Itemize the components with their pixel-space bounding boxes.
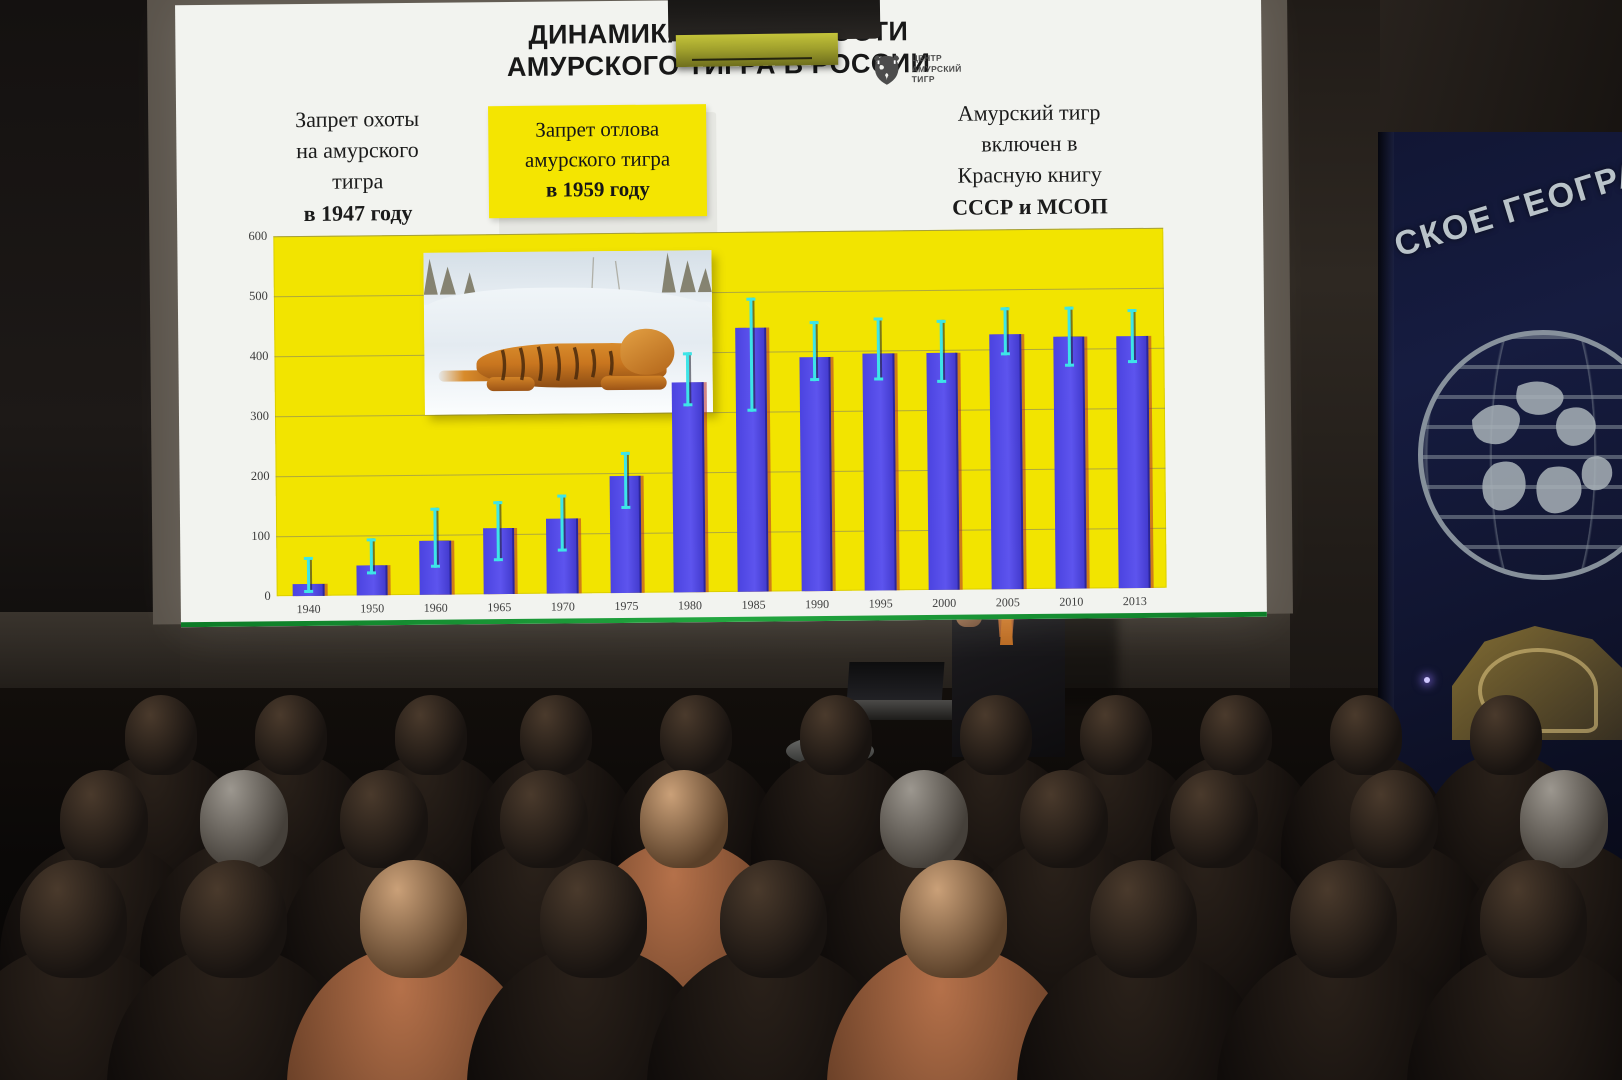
audience-head: [500, 770, 588, 868]
chart-error-bar: [686, 352, 690, 406]
chart-bar-group: [597, 233, 653, 593]
audience-head: [340, 770, 428, 868]
chart-bar-group: [1105, 228, 1161, 588]
chart-bar: [989, 334, 1023, 589]
chart-bar-group: [724, 231, 780, 591]
audience-head: [1290, 860, 1397, 978]
chart-plot-area: [273, 228, 1166, 597]
chart-bar: [672, 382, 706, 592]
chart-y-tick: 300: [223, 409, 269, 424]
chart-bar: [1053, 337, 1087, 589]
chart-error-bar: [307, 557, 310, 593]
chart-bar: [926, 353, 960, 590]
audience-head: [360, 860, 467, 978]
chart-error-bar: [813, 321, 817, 381]
audience-head: [125, 695, 197, 775]
note-right-line-2: включен в: [924, 127, 1134, 160]
audience-head: [800, 695, 872, 775]
audience-head: [640, 770, 728, 868]
audience-head: [255, 695, 327, 775]
audience-head: [60, 770, 148, 868]
chart-y-tick: 500: [222, 289, 268, 304]
chart-y-axis: 0100200300400500600: [219, 236, 270, 596]
note-right-line-3: Красную книгу: [925, 158, 1135, 191]
chart-bar-group: [1042, 228, 1098, 588]
presentation-slide: ДИНАМИКА ЧИСЛЕННОСТИ АМУРСКОГО ТИГРА В Р…: [175, 0, 1267, 627]
tiger-face-icon: [869, 51, 905, 87]
note-left-line-3: тигра: [263, 165, 453, 198]
chart-bar: [863, 353, 897, 590]
chart-bar-group: [342, 235, 398, 595]
chart-error-bar: [1003, 307, 1006, 355]
audience-head: [1090, 860, 1197, 978]
audience-head: [1330, 695, 1402, 775]
chart-bar-group: [533, 233, 589, 593]
chart-error-bar: [749, 298, 753, 412]
audience-head: [720, 860, 827, 978]
audience-head: [1170, 770, 1258, 868]
audience-head: [180, 860, 287, 978]
note-center-bold: в 1959 году: [546, 176, 650, 201]
audience-head: [20, 860, 127, 978]
chart-y-tick: 200: [223, 469, 269, 484]
chart-bar-group: [406, 235, 462, 595]
chart-error-bar: [497, 501, 501, 561]
audience-head: [200, 770, 288, 868]
note-red-book: Амурский тигр включен в Красную книгу СС…: [924, 96, 1135, 223]
audience-head: [1020, 770, 1108, 868]
audience-head: [1470, 695, 1542, 775]
note-right-line-1: Амурский тигр: [924, 96, 1134, 129]
chart-error-bar: [940, 320, 944, 383]
note-left-line-1: Запрет охоты: [262, 103, 452, 136]
chart-bar-group: [787, 231, 843, 591]
note-center-line-2: амурского тигра: [496, 144, 698, 176]
chart-error-bar: [1131, 309, 1135, 363]
screenshot-root: СКОЕ ГЕОГРАФИЧЕ ДИНАМИКА ЧИСЛЕННОСТИ: [0, 0, 1622, 1080]
note-center-line-1: Запрет отлова: [496, 114, 698, 146]
audience-head: [395, 695, 467, 775]
chart-bar-group: [279, 236, 335, 596]
projector-lens: [676, 33, 838, 67]
chart-bars: [273, 228, 1166, 597]
audience-head: [900, 860, 1007, 978]
chart-y-tick: 0: [225, 589, 271, 604]
audience-head: [1350, 770, 1438, 868]
chart-y-tick: 100: [224, 529, 270, 544]
chart-bar-group: [469, 234, 525, 594]
chart-y-tick: 600: [221, 229, 267, 244]
chart-y-tick: 400: [222, 349, 268, 364]
note-right-bold: СССР и МСОП: [952, 193, 1108, 219]
audience-head: [520, 695, 592, 775]
audience-head: [1200, 695, 1272, 775]
chart-error-bar: [370, 538, 373, 574]
chart-bar-group: [914, 230, 970, 590]
chart-bar: [1117, 336, 1151, 588]
audience-head: [880, 770, 968, 868]
tiger-population-chart: 0100200300400500600: [219, 227, 1223, 617]
chart-error-bar: [1067, 307, 1071, 367]
globe-continents-icon: [1452, 360, 1622, 550]
audience: [0, 665, 1622, 1080]
chart-bar-group: [978, 229, 1034, 589]
note-capture-ban: Запрет отлова амурского тигра в 1959 год…: [488, 104, 707, 218]
note-hunting-ban: Запрет охоты на амурского тигра в 1947 г…: [262, 103, 453, 230]
audience-head: [1080, 695, 1152, 775]
audience-head: [660, 695, 732, 775]
audience-head: [1480, 860, 1587, 978]
amur-tiger-center-logo-text: ЦЕНТР АМУРСКИЙ ТИГР: [912, 52, 962, 85]
audience-head: [960, 695, 1032, 775]
chart-error-bar: [560, 495, 564, 552]
note-left-line-2: на амурского: [262, 134, 452, 167]
chart-error-bar: [433, 508, 437, 568]
chart-bar: [799, 357, 833, 591]
note-left-bold: в 1947 году: [304, 200, 413, 226]
chart-bar-group: [851, 230, 907, 590]
chart-error-bar: [623, 452, 627, 509]
audience-head: [1520, 770, 1608, 868]
chart-error-bar: [876, 317, 880, 380]
audience-head: [540, 860, 647, 978]
chart-bar-group: [660, 232, 716, 592]
amur-tiger-center-logo: ЦЕНТР АМУРСКИЙ ТИГР: [868, 45, 990, 92]
